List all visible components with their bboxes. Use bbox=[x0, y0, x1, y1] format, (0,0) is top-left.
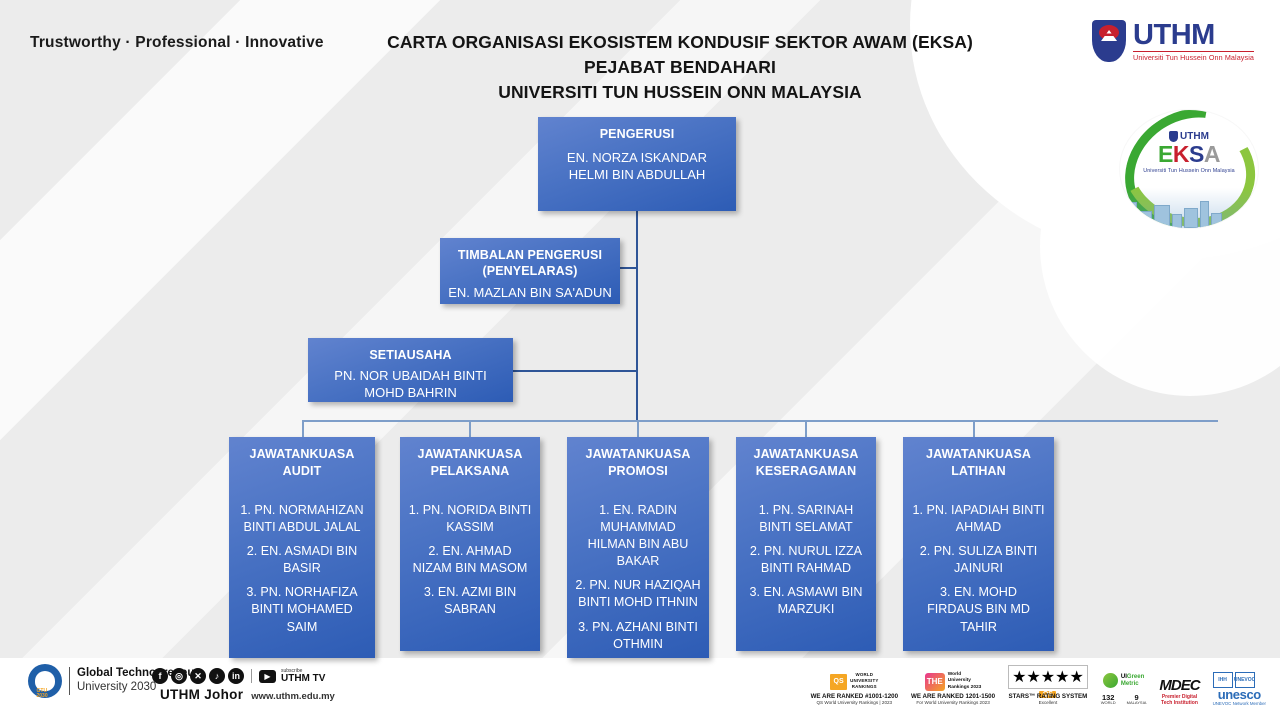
qs-stars-logo: ★★★★★ QS bbox=[1008, 671, 1088, 693]
facebook-icon[interactable]: f bbox=[152, 668, 168, 684]
connector-drop-5 bbox=[973, 420, 975, 437]
badge-ui-greenmetric: UIGreen Metric 132 WORLD 9 MALAYSIA bbox=[1101, 670, 1147, 706]
mdec-sub-2: Tech Institution bbox=[1159, 700, 1199, 706]
uthm-logo: UTHM Universiti Tun Hussein Onn Malaysia bbox=[1092, 20, 1254, 62]
unesco-boxes: IHH UNEVOC bbox=[1213, 672, 1266, 688]
greenmetric-leaf-icon bbox=[1103, 673, 1118, 688]
the-rank-source: For World University Rankings 2023 bbox=[911, 700, 995, 706]
connector-chairman-vertical bbox=[636, 210, 638, 422]
uthm-name: UTHM bbox=[1133, 21, 1254, 50]
ui-greenmetric-ranks: 132 WORLD 9 MALAYSIA bbox=[1101, 694, 1147, 706]
stars-icon: ★★★★★ bbox=[1008, 665, 1088, 689]
committee-latihan-title: JAWATANKUASA LATIHAN bbox=[911, 446, 1046, 480]
member-item: 3. EN. AZMI BIN SABRAN bbox=[408, 584, 532, 618]
stars-rating-line: STARS™ RATING SYSTEM bbox=[1008, 693, 1088, 701]
eksa-subtitle: Universiti Tun Hussein Onn Malaysia bbox=[1143, 168, 1235, 174]
member-item: 3. PN. NORHAFIZA BINTI MOHAMED SAIM bbox=[237, 584, 367, 635]
title-line-2: PEJABAT BENDAHARI bbox=[330, 55, 1030, 80]
committee-pelaksana-members: 1. PN. NORIDA BINTI KASSIM 2. EN. AHMAD … bbox=[408, 502, 532, 626]
ui-rank-world-label: WORLD bbox=[1101, 701, 1116, 706]
unesco-box-left: IHH bbox=[1213, 672, 1233, 688]
eksa-inner-content: UTHM EKSA Universiti Tun Hussein Onn Mal… bbox=[1137, 127, 1241, 211]
youtube-channel-name: UTHM TV bbox=[281, 674, 325, 684]
qs-logo: QS WORLD UNIVERSITY RANKINGS bbox=[811, 671, 898, 693]
member-item: 1. EN. RADIN MUHAMMAD HILMAN BIN ABU BAK… bbox=[575, 502, 701, 571]
member-item: 3. EN. MOHD FIRDAUS BIN MD TAHIR bbox=[911, 584, 1046, 635]
the-mark-text: World University Rankings 2023 bbox=[948, 672, 982, 691]
metric-label: Metric bbox=[1121, 681, 1144, 688]
node-setiausaha-person: PN. NOR UBAIDAH BINTI MOHD BAHRIN bbox=[316, 367, 505, 401]
title-line-3: UNIVERSITI TUN HUSSEIN ONN MALAYSIA bbox=[330, 80, 1030, 105]
qs-bar-label: WORLD bbox=[850, 673, 878, 677]
member-item: 2. PN. SULIZA BINTI JAINURI bbox=[911, 543, 1046, 577]
committee-pelaksana-title: JAWATANKUASA PELAKSANA bbox=[408, 446, 532, 480]
stars-rating-grade: Excellent bbox=[1008, 700, 1088, 706]
connector-drop-2 bbox=[469, 420, 471, 437]
badge-qs-rankings: QS WORLD UNIVERSITY RANKINGS WE ARE RANK… bbox=[811, 671, 898, 706]
node-setiausaha-role: SETIAUSAHA bbox=[369, 347, 451, 363]
committee-keseragaman[interactable]: JAWATANKUASA KESERAGAMAN 1. PN. SARINAH … bbox=[736, 437, 876, 651]
qs-rank-source: QS World University Rankings | 2023 bbox=[811, 700, 898, 706]
uthm-johor-handle-row: UTHM Johor www.uthm.edu.my bbox=[160, 687, 335, 702]
qs-bar-label: RANKINGS bbox=[850, 685, 878, 689]
badge-mdec: MDEC Premier Digital Tech Institution bbox=[1159, 677, 1199, 707]
committee-audit-members: 1. PN. NORMAHIZAN BINTI ABDUL JALAL 2. E… bbox=[237, 502, 367, 643]
uthm-johor-handle: UTHM Johor bbox=[160, 687, 243, 702]
member-item: 3. PN. AZHANI BINTI OTHMIN bbox=[575, 619, 701, 653]
committee-audit[interactable]: JAWATANKUASA AUDIT 1. PN. NORMAHIZAN BIN… bbox=[229, 437, 375, 658]
eksa-uthm-text: UTHM bbox=[1180, 132, 1209, 142]
social-icons-row: f ◎ ✕ ♪ in ▶ subscribe UTHM TV bbox=[152, 668, 325, 684]
ui-rank-malaysia: 9 MALAYSIA bbox=[1127, 694, 1147, 706]
the-logo: THE World University Rankings 2023 bbox=[911, 671, 995, 693]
the-rank-line: WE ARE RANKED 1201-1500 bbox=[911, 693, 995, 701]
social-separator bbox=[251, 669, 252, 683]
x-twitter-icon[interactable]: ✕ bbox=[190, 668, 206, 684]
committee-pelaksana[interactable]: JAWATANKUASA PELAKSANA 1. PN. NORIDA BIN… bbox=[400, 437, 540, 651]
org-chart-canvas: Trustworthy · Professional · Innovative … bbox=[0, 0, 1280, 720]
member-item: 1. PN. IAPADIAH BINTI AHMAD bbox=[911, 502, 1046, 536]
committee-promosi[interactable]: JAWATANKUASA PROMOSI 1. EN. RADIN MUHAMM… bbox=[567, 437, 709, 658]
qs-bar-label: UNIVERSITY bbox=[850, 679, 878, 683]
connector-drop-1 bbox=[302, 420, 304, 437]
accreditation-badges: QS WORLD UNIVERSITY RANKINGS WE ARE RANK… bbox=[811, 670, 1266, 706]
gtu-year: GTU 2030 bbox=[37, 689, 54, 699]
connector-drop-3 bbox=[637, 420, 639, 437]
member-item: 2. EN. AHMAD NIZAM BIN MASOM bbox=[408, 543, 532, 577]
youtube-icon[interactable]: ▶ bbox=[259, 670, 276, 683]
member-item: 2. EN. ASMADI BIN BASIR bbox=[237, 543, 367, 577]
unesco-wordmark: unesco bbox=[1213, 688, 1266, 701]
uthm-subtitle: Universiti Tun Hussein Onn Malaysia bbox=[1133, 51, 1254, 61]
badge-qs-stars: ★★★★★ QS STARS™ RATING SYSTEM Excellent bbox=[1008, 671, 1088, 706]
committee-promosi-title: JAWATANKUASA PROMOSI bbox=[575, 446, 701, 480]
connector-secretary-horizontal bbox=[511, 370, 637, 372]
tagline: Trustworthy · Professional · Innovative bbox=[30, 34, 324, 52]
node-pengerusi-person: EN. NORZA ISKANDAR HELMI BIN ABDULLAH bbox=[546, 149, 728, 183]
node-pengerusi[interactable]: PENGERUSI EN. NORZA ISKANDAR HELMI BIN A… bbox=[538, 117, 736, 211]
committee-latihan-members: 1. PN. IAPADIAH BINTI AHMAD 2. PN. SULIZ… bbox=[911, 502, 1046, 643]
qs-bars-icon: WORLD UNIVERSITY RANKINGS bbox=[850, 673, 878, 689]
member-item: 1. PN. NORIDA BINTI KASSIM bbox=[408, 502, 532, 536]
committee-audit-title: JAWATANKUASA AUDIT bbox=[237, 446, 367, 480]
committee-keseragaman-members: 1. PN. SARINAH BINTI SELAMAT 2. PN. NURU… bbox=[744, 502, 868, 626]
committee-latihan[interactable]: JAWATANKUASA LATIHAN 1. PN. IAPADIAH BIN… bbox=[903, 437, 1054, 651]
node-timbalan-pengerusi[interactable]: TIMBALAN PENGERUSI (PENYELARAS) EN. MAZL… bbox=[440, 238, 620, 304]
member-item: 2. PN. NURUL IZZA BINTI RAHMAD bbox=[744, 543, 868, 577]
node-timbalan-person: EN. MAZLAN BIN SA'ADUN bbox=[448, 284, 612, 301]
member-item: 2. PN. NUR HAZIQAH BINTI MOHD ITHNIN bbox=[575, 577, 701, 611]
title-line-1: CARTA ORGANISASI EKOSISTEM KONDUSIF SEKT… bbox=[330, 30, 1030, 55]
node-pengerusi-role: PENGERUSI bbox=[600, 126, 675, 142]
uthm-wordmark: UTHM Universiti Tun Hussein Onn Malaysia bbox=[1133, 21, 1254, 61]
ui-rank-malaysia-label: MALAYSIA bbox=[1127, 701, 1147, 706]
connector-committee-bus bbox=[302, 420, 1218, 422]
linkedin-icon[interactable]: in bbox=[228, 668, 244, 684]
badge-unesco: IHH UNEVOC unesco UNEVOC Network Member bbox=[1213, 672, 1266, 706]
uthm-shield-icon bbox=[1092, 20, 1126, 62]
mdec-wordmark: MDEC bbox=[1159, 677, 1199, 694]
gtu-mark-icon: GTU 2030 bbox=[28, 664, 62, 698]
unesco-box-right-text: UNEVOC bbox=[1234, 677, 1255, 683]
uthm-website[interactable]: www.uthm.edu.my bbox=[251, 691, 335, 702]
committee-promosi-members: 1. EN. RADIN MUHAMMAD HILMAN BIN ABU BAK… bbox=[575, 502, 701, 660]
qs-rank-line: WE ARE RANKED #1001-1200 bbox=[811, 693, 898, 701]
ui-rank-world: 132 WORLD bbox=[1101, 694, 1116, 706]
eksa-letter-s: S bbox=[1189, 141, 1204, 167]
page-title: CARTA ORGANISASI EKOSISTEM KONDUSIF SEKT… bbox=[330, 30, 1030, 105]
ui-greenmetric-text: UIGreen Metric bbox=[1121, 674, 1144, 687]
member-item: 1. PN. NORMAHIZAN BINTI ABDUL JALAL bbox=[237, 502, 367, 536]
eksa-logo: UTHM EKSA Universiti Tun Hussein Onn Mal… bbox=[1120, 110, 1258, 228]
youtube-label-group: subscribe UTHM TV bbox=[281, 669, 325, 684]
ui-greenmetric-logo: UIGreen Metric bbox=[1101, 670, 1147, 692]
node-timbalan-role: TIMBALAN PENGERUSI (PENYELARAS) bbox=[448, 247, 612, 280]
badge-the-rankings: THE World University Rankings 2023 WE AR… bbox=[911, 671, 995, 706]
green-label: Green bbox=[1127, 674, 1144, 680]
unesco-subtitle: UNEVOC Network Member bbox=[1213, 701, 1266, 706]
eksa-letter-k: K bbox=[1173, 141, 1189, 167]
instagram-icon[interactable]: ◎ bbox=[171, 668, 187, 684]
node-setiausaha[interactable]: SETIAUSAHA PN. NOR UBAIDAH BINTI MOHD BA… bbox=[308, 338, 513, 402]
eksa-wordmark: EKSA bbox=[1158, 143, 1220, 166]
unesco-box-right: UNEVOC bbox=[1235, 672, 1255, 688]
the-mark-icon: THE bbox=[925, 673, 945, 691]
tiktok-icon[interactable]: ♪ bbox=[209, 668, 225, 684]
eksa-letter-e: E bbox=[1158, 141, 1173, 167]
member-item: 3. EN. ASMAWI BIN MARZUKI bbox=[744, 584, 868, 618]
eksa-letter-a: A bbox=[1204, 141, 1220, 167]
mdec-sub-1: Premier Digital bbox=[1159, 694, 1199, 700]
the-line: Rankings 2023 bbox=[948, 685, 982, 691]
unesco-box-left-text: IHH bbox=[1218, 677, 1227, 683]
member-item: 1. PN. SARINAH BINTI SELAMAT bbox=[744, 502, 868, 536]
committee-keseragaman-title: JAWATANKUASA KESERAGAMAN bbox=[744, 446, 868, 480]
qs-mark-icon: QS bbox=[830, 674, 847, 690]
connector-drop-4 bbox=[805, 420, 807, 437]
